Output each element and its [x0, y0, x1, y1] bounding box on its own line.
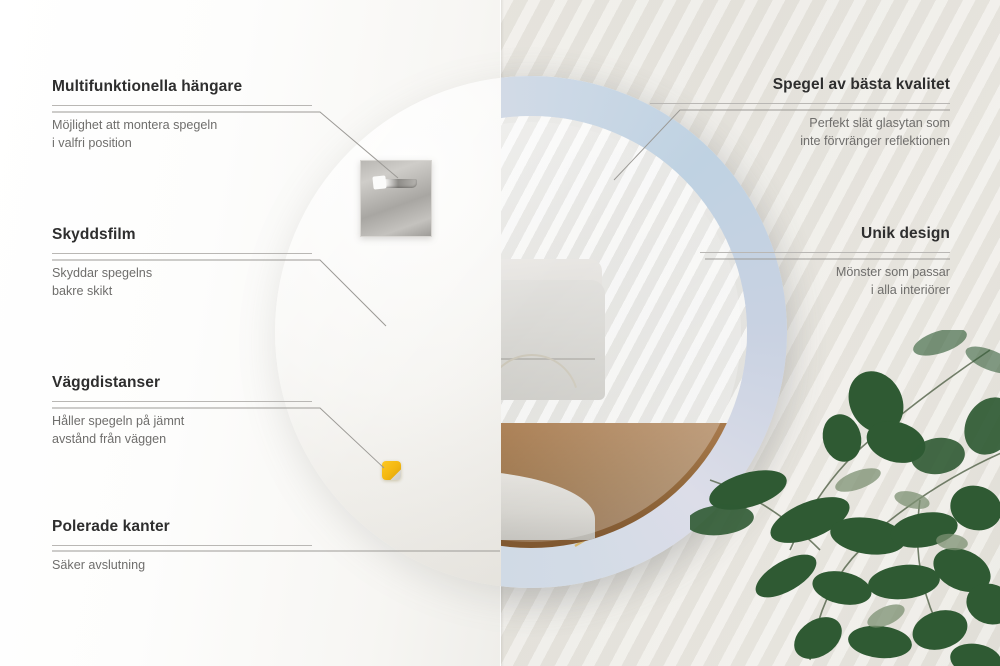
- callout-wall-spacers-desc-line1: Håller spegeln på jämnt: [52, 414, 184, 428]
- callout-polished-edges-desc: Säker avslutning: [52, 557, 312, 575]
- callout-wall-spacers-rule: [52, 401, 312, 402]
- callout-unique-design-desc-line1: Mönster som passar: [836, 265, 950, 279]
- callout-protective-film: Skyddsfilm Skyddar spegelns bakre skikt: [52, 226, 312, 301]
- callout-protective-film-desc: Skyddar spegelns bakre skikt: [52, 265, 312, 301]
- callout-polished-edges-desc-line1: Säker avslutning: [52, 558, 145, 572]
- callout-hangers-title: Multifunktionella hängare: [52, 78, 312, 96]
- callout-mirror-quality-rule: [650, 103, 950, 104]
- callout-polished-edges-rule: [52, 545, 312, 546]
- callout-hangers-rule: [52, 105, 312, 106]
- callout-unique-design-desc-line2: i alla interiörer: [871, 283, 950, 297]
- marble-frame: [501, 76, 787, 588]
- callout-wall-spacers-title: Väggdistanser: [52, 374, 312, 392]
- callout-protective-film-title: Skyddsfilm: [52, 226, 312, 244]
- callout-wall-spacers-desc-line2: avstånd från väggen: [52, 432, 166, 446]
- callout-wall-spacers: Väggdistanser Håller spegeln på jämnt av…: [52, 374, 312, 449]
- callout-unique-design-desc: Mönster som passar i alla interiörer: [700, 264, 950, 300]
- callout-mirror-quality: Spegel av bästa kvalitet Perfekt slät gl…: [650, 76, 950, 151]
- callout-wall-spacers-desc: Håller spegeln på jämnt avstånd från väg…: [52, 413, 312, 449]
- hanger-keyhole-slot: [375, 179, 417, 188]
- callout-unique-design: Unik design Mönster som passar i alla in…: [700, 225, 950, 300]
- callout-unique-design-rule: [700, 252, 950, 253]
- callout-mirror-quality-desc: Perfekt slät glasytan som inte förvränge…: [650, 115, 950, 151]
- mirror-glass: [501, 116, 747, 548]
- callout-mirror-quality-title: Spegel av bästa kvalitet: [650, 76, 950, 94]
- callout-hangers-desc: Möjlighet att montera spegeln i valfri p…: [52, 117, 312, 153]
- infographic-canvas: Multifunktionella hängare Möjlighet att …: [0, 0, 1000, 666]
- yellow-spacer: [382, 461, 401, 480]
- callout-mirror-quality-desc-line2: inte förvränger reflektionen: [800, 134, 950, 148]
- callout-mirror-quality-desc-line1: Perfekt slät glasytan som: [809, 116, 950, 130]
- callout-polished-edges-title: Polerade kanter: [52, 518, 312, 536]
- callout-protective-film-desc-line1: Skyddar spegelns: [52, 266, 152, 280]
- callout-protective-film-desc-line2: bakre skikt: [52, 284, 112, 298]
- callout-hangers: Multifunktionella hängare Möjlighet att …: [52, 78, 312, 153]
- hanger-plate: [360, 160, 432, 237]
- callout-unique-design-title: Unik design: [700, 225, 950, 243]
- callout-polished-edges: Polerade kanter Säker avslutning: [52, 518, 312, 575]
- callout-hangers-desc-line2: i valfri position: [52, 136, 132, 150]
- callout-hangers-desc-line1: Möjlighet att montera spegeln: [52, 118, 217, 132]
- callout-protective-film-rule: [52, 253, 312, 254]
